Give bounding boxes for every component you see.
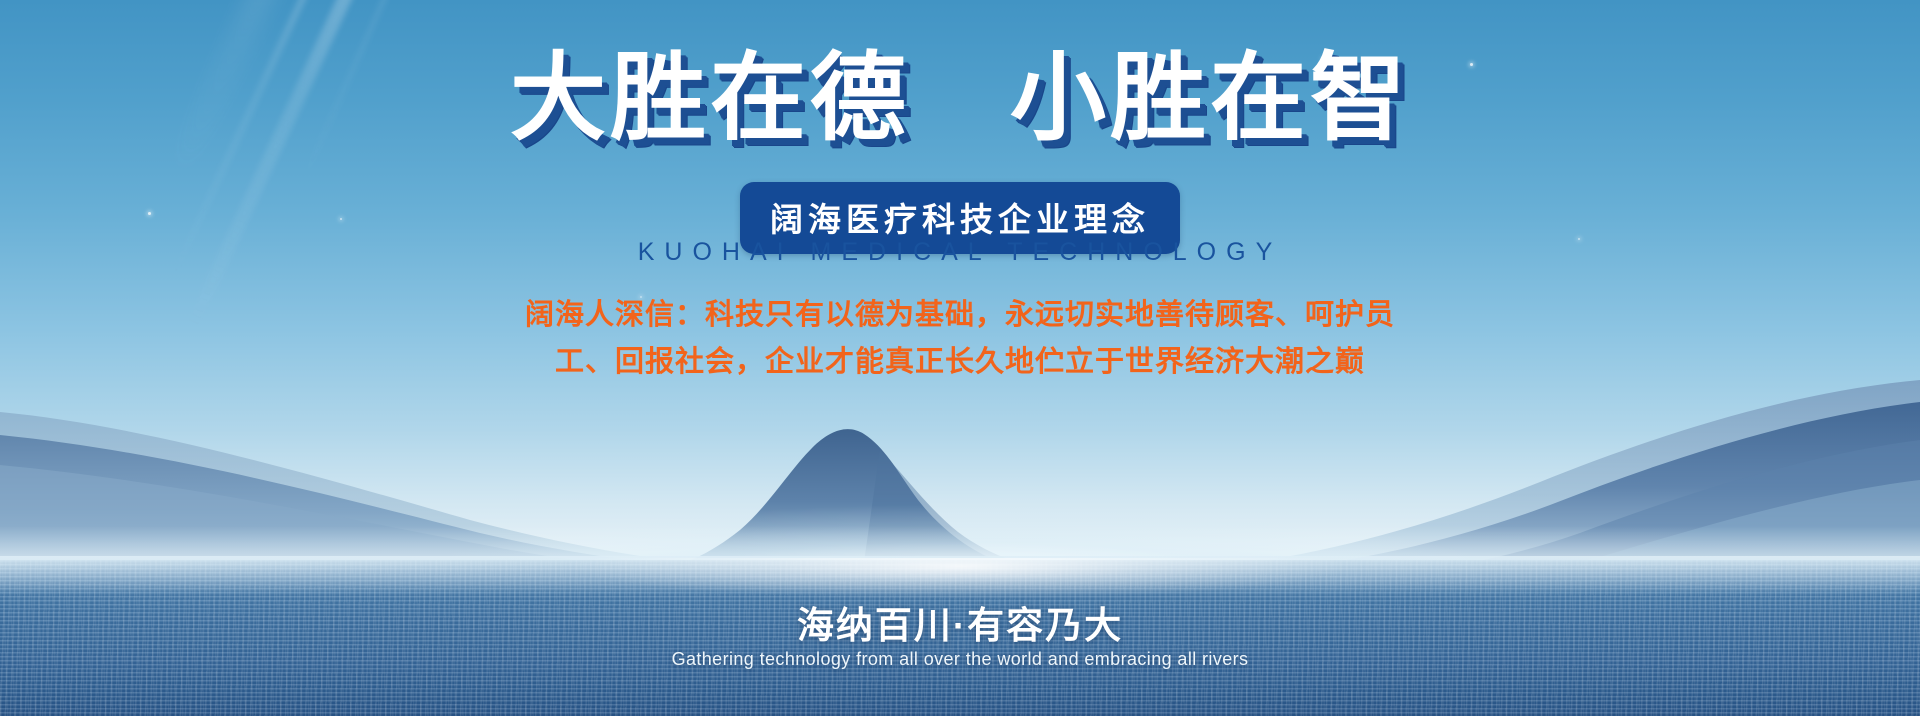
company-name-english: KUOHAI MEDICAL TECHNOLOGY bbox=[0, 238, 1920, 267]
tagline-english: Gathering technology from all over the w… bbox=[0, 649, 1920, 670]
banner-content: 大胜在德 小胜在智 阔海医疗科技企业理念 KUOHAI MEDICAL TECH… bbox=[0, 0, 1920, 716]
philosophy-paragraph: 阔海人深信：科技只有以德为基础，永远切实地善待顾客、呵护员 工、回报社会，企业才… bbox=[0, 292, 1920, 386]
philosophy-paragraph-line-2: 工、回报社会，企业才能真正长久地伫立于世界经济大潮之巅 bbox=[0, 339, 1920, 386]
tagline-chinese: 海纳百川·有容乃大 bbox=[0, 595, 1920, 649]
banner-headline: 大胜在德 小胜在智 bbox=[0, 48, 1920, 150]
company-philosophy-banner: 大胜在德 小胜在智 阔海医疗科技企业理念 KUOHAI MEDICAL TECH… bbox=[0, 0, 1920, 716]
philosophy-paragraph-line-1: 阔海人深信：科技只有以德为基础，永远切实地善待顾客、呵护员 bbox=[0, 292, 1920, 339]
